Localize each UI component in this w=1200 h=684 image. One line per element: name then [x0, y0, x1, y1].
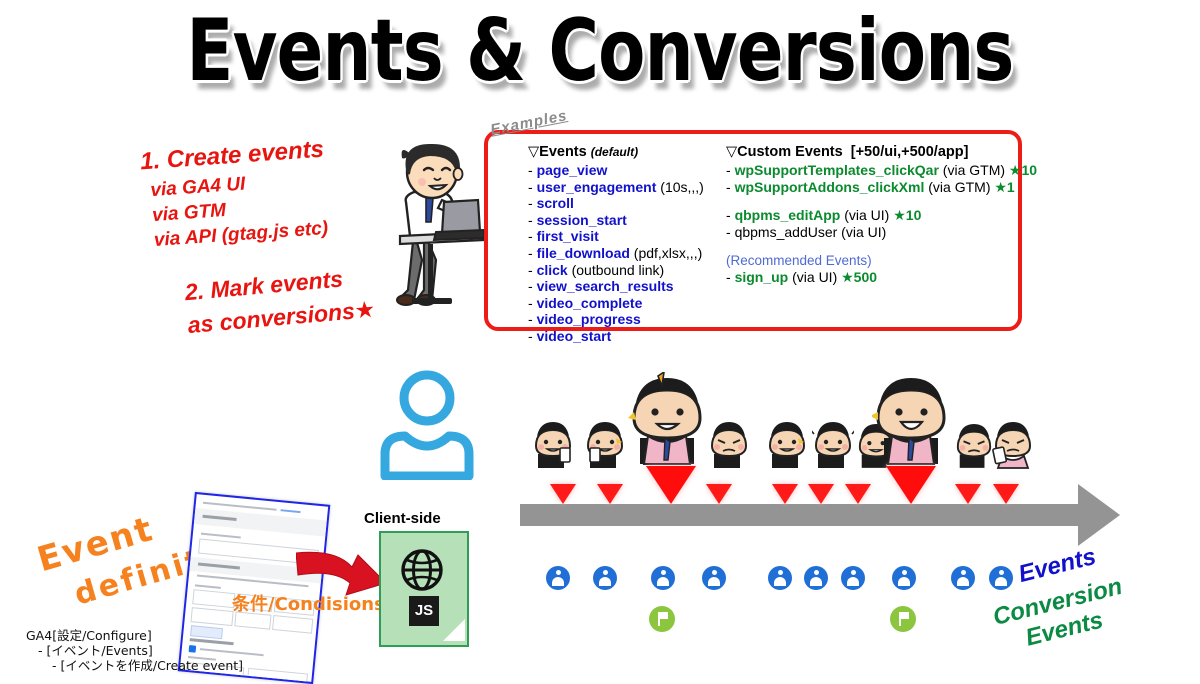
- event-marker-large: [646, 466, 696, 504]
- card-fold-corner: [443, 619, 465, 641]
- custom-event-item: - qbpms_addUser (via UI): [726, 224, 1012, 241]
- event-badge: [546, 566, 570, 590]
- event-item: - user_engagement (10s,,,): [528, 179, 748, 196]
- event-item: - first_visit: [528, 228, 748, 245]
- custom-event-item: - sign_up (via UI) ★500: [726, 269, 1012, 286]
- event-badge: [593, 566, 617, 590]
- person-head-icon: [532, 418, 574, 470]
- event-item: - file_download (pdf,xlsx,,,): [528, 245, 748, 262]
- star-count: ★10: [1009, 162, 1037, 178]
- star-count: ★10: [893, 207, 921, 223]
- javascript-icon: JS: [409, 596, 439, 626]
- person-head-icon-large: [872, 372, 950, 470]
- timeline-arrow-bar: [520, 504, 1080, 526]
- event-item: - video_start: [528, 328, 748, 345]
- person-head-icon: [584, 418, 626, 470]
- event-badge: [702, 566, 726, 590]
- poster-canvas: Events & Conversions 1. Create events vi…: [0, 0, 1200, 675]
- event-item: - view_search_results: [528, 278, 748, 295]
- spacer: [726, 240, 1012, 252]
- event-badge: [651, 566, 675, 590]
- user-icon: [372, 368, 482, 480]
- event-marker-small: [550, 484, 576, 504]
- event-badge: [951, 566, 975, 590]
- examples-box: ▽Events (default) - page_view - user_eng…: [484, 130, 1022, 331]
- person-head-icon: [812, 418, 854, 470]
- event-badge: [768, 566, 792, 590]
- event-item: - video_progress: [528, 311, 748, 328]
- custom-event-item: - wpSupportAddons_clickXml (via GTM) ★1: [726, 179, 1012, 196]
- conversion-flag-icon: [649, 606, 675, 632]
- event-marker-small: [955, 484, 981, 504]
- event-item: - video_complete: [528, 295, 748, 312]
- custom-events-column: ▽Custom Events [+50/ui,+500/app] - wpSup…: [726, 144, 1012, 286]
- custom-events-heading: ▽Custom Events [+50/ui,+500/app]: [726, 144, 1012, 160]
- step-1-methods: via GA4 UI via GTM via API (gtag.js etc): [150, 166, 329, 253]
- event-marker-small: [706, 484, 732, 504]
- event-marker-small: [845, 484, 871, 504]
- page-title: Events & Conversions: [120, 6, 1080, 96]
- standing-desk-person-illustration: [372, 140, 484, 320]
- custom-event-item: - qbpms_editApp (via UI) ★10: [726, 207, 1012, 224]
- event-marker-small: [772, 484, 798, 504]
- ga4-path-line-3: - [イベントを作成/Create event]: [26, 658, 243, 673]
- legend-conversion-events: Conversion Events: [990, 573, 1131, 658]
- star-count: ★500: [841, 269, 877, 285]
- step-2-heading: 2. Mark events as conversions★: [184, 260, 377, 341]
- ga4-path-line-1: GA4[設定/Configure]: [26, 628, 152, 643]
- event-badge: [892, 566, 916, 590]
- ga4-menu-path: GA4[設定/Configure] - [イベント/Events] - [イベン…: [26, 628, 243, 673]
- event-marker-small: [993, 484, 1019, 504]
- default-events-heading: ▽Events (default): [528, 144, 748, 160]
- conversion-flag-icon: [890, 606, 916, 632]
- client-side-label: Client-side: [364, 510, 441, 527]
- person-head-icon: [766, 418, 808, 470]
- recommended-events-label: (Recommended Events): [726, 252, 1012, 269]
- event-marker-small: [597, 484, 623, 504]
- event-item: - scroll: [528, 195, 748, 212]
- globe-icon: [400, 548, 444, 592]
- red-arrow-icon: [296, 545, 388, 609]
- event-item: - session_start: [528, 212, 748, 229]
- event-badge: [804, 566, 828, 590]
- event-badge: [989, 566, 1013, 590]
- timeline-arrow-head: [1078, 484, 1120, 546]
- event-item: - click (outbound link): [528, 262, 748, 279]
- event-item: - page_view: [528, 162, 748, 179]
- star-count: ★1: [994, 179, 1014, 195]
- default-events-column: ▽Events (default) - page_view - user_eng…: [528, 144, 748, 345]
- ga4-path-line-2: - [イベント/Events]: [26, 643, 243, 658]
- person-head-icon: [708, 418, 750, 470]
- event-badge: [841, 566, 865, 590]
- event-marker-large: [886, 466, 936, 504]
- person-head-icon: [992, 416, 1034, 470]
- event-marker-small: [808, 484, 834, 504]
- spacer: [726, 195, 1012, 207]
- custom-event-item: - wpSupportTemplates_clickQar (via GTM) …: [726, 162, 1012, 179]
- person-head-icon-large: [628, 372, 706, 470]
- person-head-icon: [954, 420, 994, 470]
